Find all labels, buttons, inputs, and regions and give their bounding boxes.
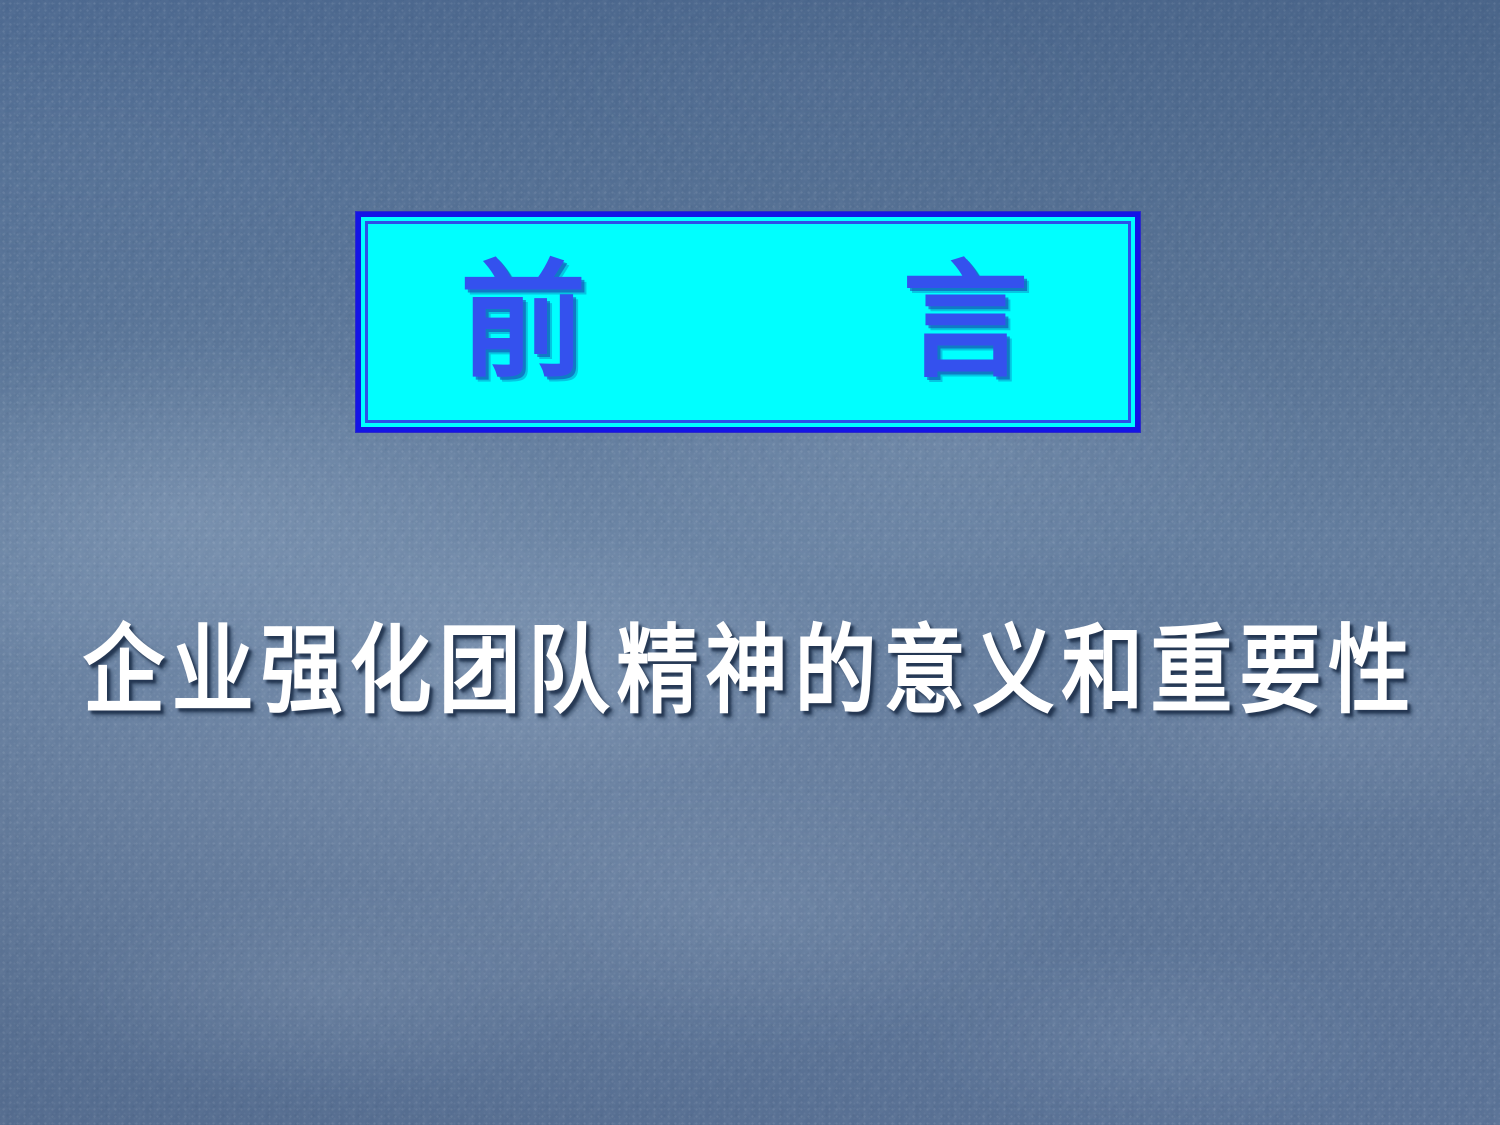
slide-subtitle: 企业强化团队精神的意义和重要性 [83,620,1418,724]
slide-background-vignette [0,0,1500,1125]
presentation-slide: 前 言 企业强化团队精神的意义和重要性 [0,0,1500,1125]
slide-title: 前 言 [460,259,1036,385]
subtitle-container: 企业强化团队精神的意义和重要性 [0,612,1500,732]
title-plaque: 前 言 [356,212,1140,432]
